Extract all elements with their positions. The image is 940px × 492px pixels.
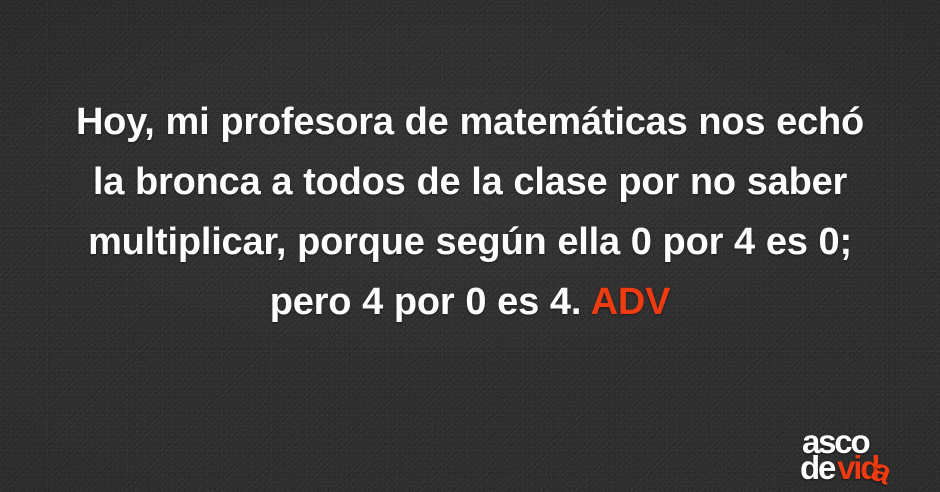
quote-line-2: la bronca a todos de la clase por no sab… — [42, 152, 898, 212]
quote-text-block: Hoy, mi profesora de matemáticas nos ech… — [0, 92, 940, 332]
logo-row-de-vida: devida — [800, 451, 926, 484]
adv-signature: ADV — [591, 281, 671, 323]
logo-word-de: de — [800, 449, 834, 486]
quote-line-3: multiplicar, porque según ella 0 por 4 e… — [42, 212, 898, 272]
quote-line-1: Hoy, mi profesora de matemáticas nos ech… — [42, 92, 898, 152]
image-card: Hoy, mi profesora de matemáticas nos ech… — [0, 0, 940, 492]
quote-line-4-text: pero 4 por 0 es 4. — [270, 281, 581, 323]
asco-de-vida-logo[interactable]: asco devida — [800, 425, 926, 484]
quote-line-4: pero 4 por 0 es 4. ADV — [42, 272, 898, 332]
logo-word-vida: vida — [837, 451, 894, 484]
